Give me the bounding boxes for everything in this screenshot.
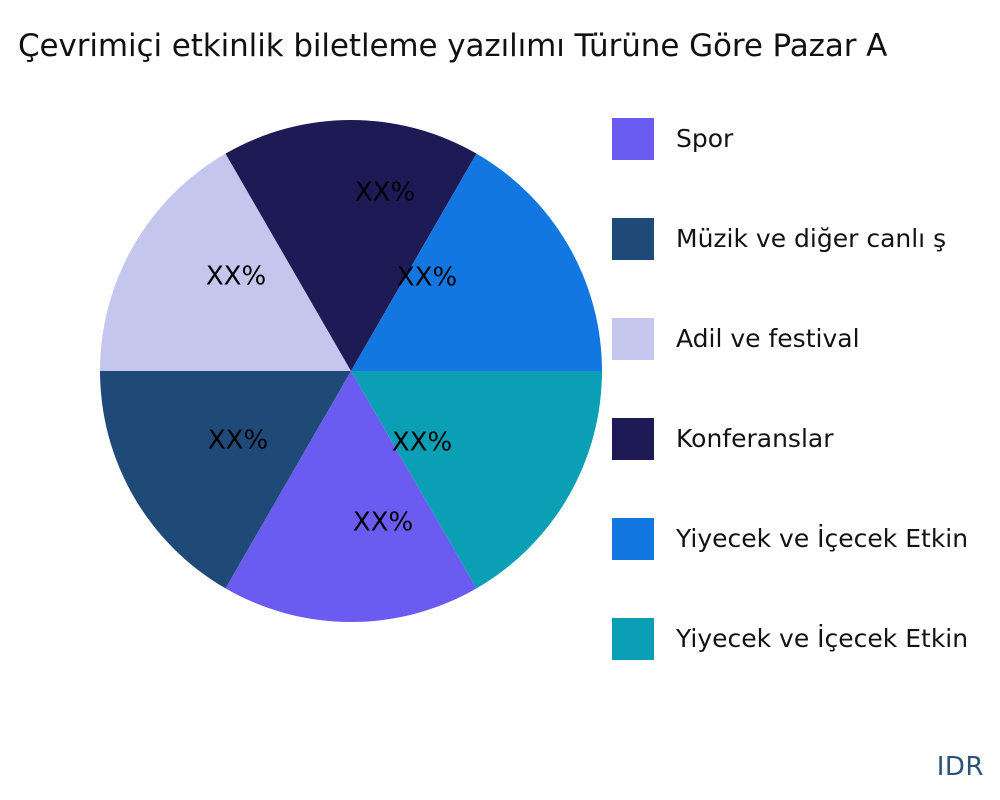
legend-item-muzik[interactable]: Müzik ve diğer canlı ş: [612, 218, 1000, 318]
pie-slice-value-label: XX%: [355, 178, 415, 208]
legend-item-adil-ve-festival[interactable]: Adil ve festival: [612, 318, 1000, 418]
legend-item-konferanslar[interactable]: Konferanslar: [612, 418, 1000, 518]
legend-item-yiyecek-icecek-2[interactable]: Yiyecek ve İçecek Etkin: [612, 618, 1000, 718]
legend-item-label: Yiyecek ve İçecek Etkin: [676, 518, 968, 560]
chart-legend: Spor Müzik ve diğer canlı ş Adil ve fest…: [612, 118, 1000, 718]
legend-swatch-icon: [612, 418, 654, 460]
pie-slice-value-label: XX%: [206, 262, 266, 292]
pie-svg: XX%XX%XX%XX%XX%XX%: [100, 120, 602, 622]
legend-item-label: Spor: [676, 118, 733, 160]
legend-item-label: Müzik ve diğer canlı ş: [676, 218, 946, 260]
pie-slice-value-label: XX%: [353, 508, 413, 538]
legend-item-spor[interactable]: Spor: [612, 118, 1000, 218]
legend-swatch-icon: [612, 218, 654, 260]
legend-swatch-icon: [612, 618, 654, 660]
pie-chart: XX%XX%XX%XX%XX%XX%: [100, 120, 602, 622]
currency-label: IDR: [937, 752, 984, 782]
legend-swatch-icon: [612, 318, 654, 360]
legend-swatch-icon: [612, 118, 654, 160]
chart-container: Çevrimiçi etkinlik biletleme yazılımı Tü…: [0, 0, 1000, 800]
legend-item-yiyecek-icecek-1[interactable]: Yiyecek ve İçecek Etkin: [612, 518, 1000, 618]
legend-item-label: Konferanslar: [676, 418, 833, 460]
legend-swatch-icon: [612, 518, 654, 560]
pie-slice-value-label: XX%: [397, 263, 457, 293]
legend-item-label: Yiyecek ve İçecek Etkin: [676, 618, 968, 660]
pie-slice-value-label: XX%: [392, 428, 452, 458]
legend-item-label: Adil ve festival: [676, 318, 860, 360]
pie-slice-value-label: XX%: [208, 426, 268, 456]
chart-title: Çevrimiçi etkinlik biletleme yazılımı Tü…: [18, 26, 1000, 66]
pie-slice-group: [100, 120, 602, 622]
